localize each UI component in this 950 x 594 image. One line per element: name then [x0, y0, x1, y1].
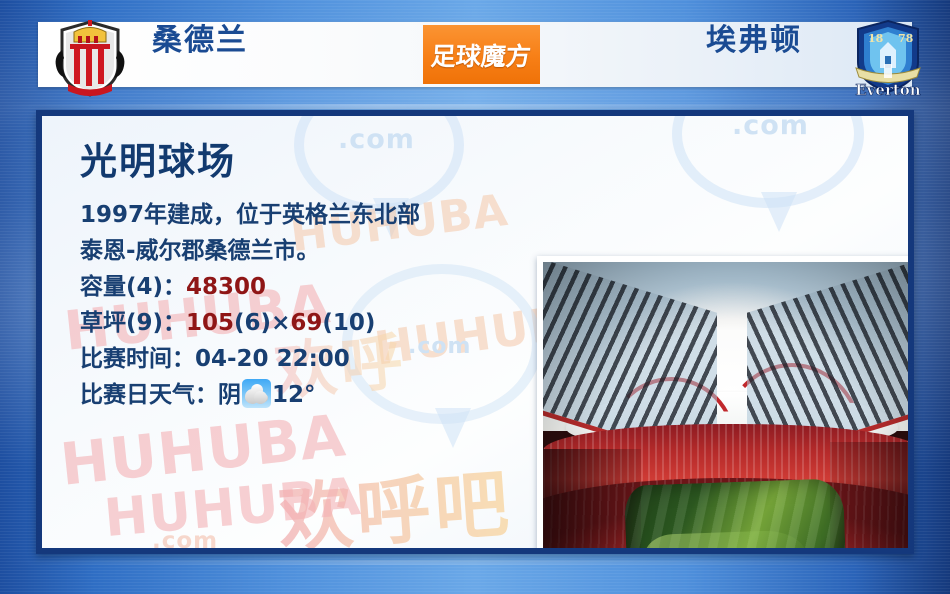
- stadium-weather-line: 比赛日天气：阴12°: [80, 377, 500, 413]
- away-team-name: 埃弗顿: [706, 26, 802, 56]
- background-streak: [0, 104, 950, 109]
- stadium-photo-frame: [537, 256, 908, 548]
- home-team-name: 桑德兰: [152, 26, 248, 56]
- stadium-pitch-line: 草坪(9)：105(6)×69(10): [80, 305, 500, 341]
- pitch-length: 105: [186, 310, 234, 336]
- watermark-com: .com: [732, 116, 809, 141]
- everton-year-right: 78: [898, 32, 914, 45]
- background-streak: [0, 560, 950, 565]
- stadium-info-text: 光明球场 1997年建成，位于英格兰东北部 泰恩-威尔郡桑德兰市。 容量(4)：…: [80, 142, 500, 413]
- stadium-title: 光明球场: [80, 142, 500, 183]
- stadium-kickoff-line: 比赛时间：04-20 22:00: [80, 341, 500, 377]
- stadium-built-line: 1997年建成，位于英格兰东北部: [80, 197, 500, 233]
- everton-wordmark: Everton: [855, 81, 921, 99]
- watermark-huhuba: HUHUBA: [57, 401, 349, 499]
- kickoff-value: 04-20 22:00: [195, 346, 350, 372]
- pitch-separator: ×: [271, 310, 290, 336]
- stadium-photo: [543, 262, 908, 548]
- watermark-huhuba: HUHUBA: [102, 467, 364, 548]
- watermark-huanhuba: 欢呼吧: [275, 444, 516, 548]
- stadium-capacity-line: 容量(4)：48300: [80, 269, 500, 305]
- watermark-bubble: [672, 116, 864, 208]
- brand-logo[interactable]: 足球魔方: [423, 25, 540, 84]
- weather-condition: 阴: [218, 382, 241, 408]
- pitch-width: 69: [290, 310, 322, 336]
- kickoff-label: 比赛时间：: [80, 346, 195, 372]
- pitch-width-rank: (10): [322, 310, 375, 336]
- pitch-label: 草坪(9)：: [80, 310, 186, 336]
- everton-crest: 18 78 Everton: [846, 16, 930, 100]
- stadium-info-card: 桑德兰 足球魔方 埃弗顿 18 78 Everton .com .com HUH…: [0, 0, 950, 594]
- watermark-com: .com: [152, 528, 218, 548]
- stadium-location-line: 泰恩-威尔郡桑德兰市。: [80, 233, 500, 269]
- everton-year-left: 18: [868, 32, 884, 45]
- sunderland-crest: [48, 16, 132, 100]
- weather-label: 比赛日天气：: [80, 382, 218, 408]
- capacity-value: 48300: [186, 274, 266, 300]
- brand-logo-label: 足球魔方: [430, 37, 533, 73]
- pitch-length-rank: (6): [234, 310, 271, 336]
- weather-temperature: 12°: [272, 382, 316, 408]
- info-panel: .com .com HUHUBA HUHUBA HUHUBA HUHUBA .c…: [36, 110, 914, 554]
- capacity-label: 容量(4)：: [80, 274, 186, 300]
- cloudy-icon: [242, 379, 271, 408]
